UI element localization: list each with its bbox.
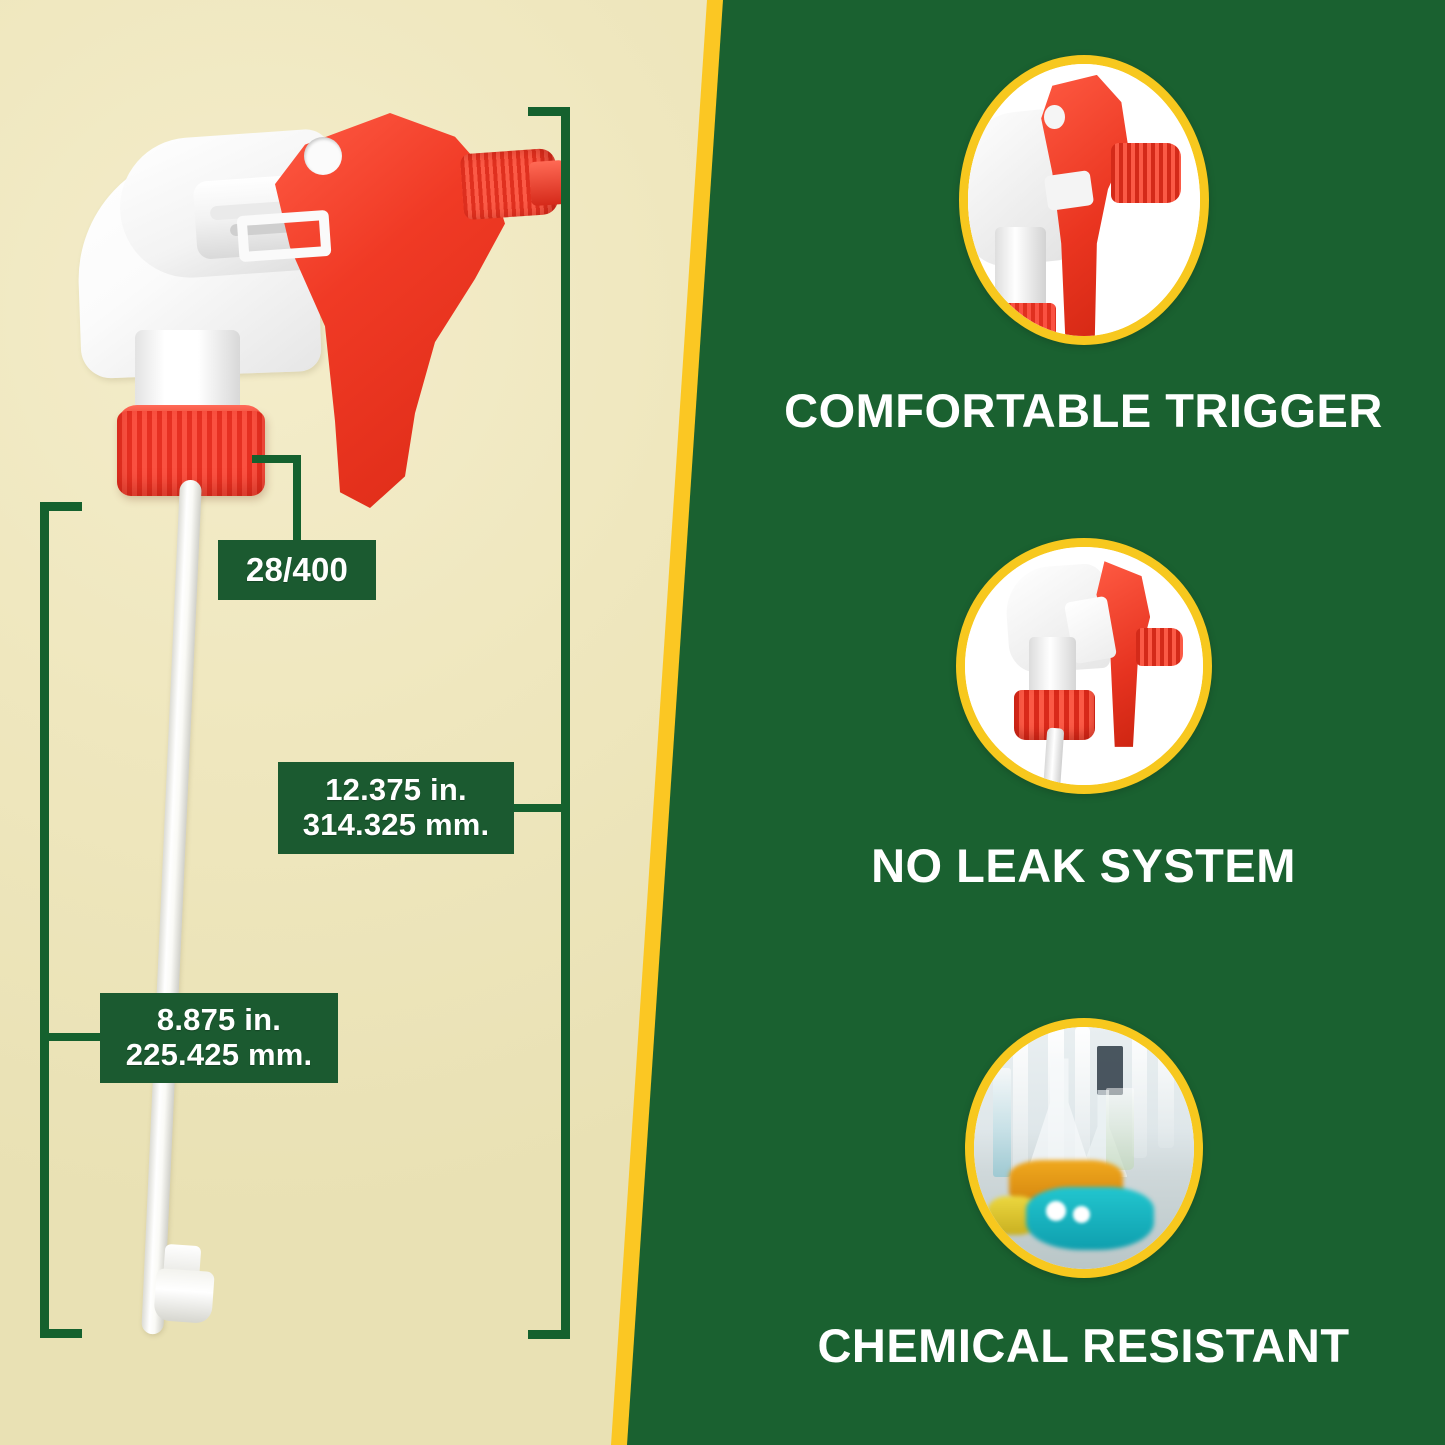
feature-chemical-resistant: CHEMICAL RESISTANT [722,1018,1445,1373]
closeup-pivot-dot [1044,105,1065,129]
sprayer-trigger-pivot-hole [304,137,342,175]
feature-image-no-leak-system [956,538,1212,794]
specular-highlight-1 [1046,1201,1066,1220]
trigger-sprayer-image [60,95,560,1385]
dimension-label-overall-length: 12.375 in. 314.325 mm. [278,762,514,854]
noleak-nozzle-knob [1136,628,1184,666]
glass-rod-4 [1132,1027,1147,1158]
feature-title-chemical-resistant: CHEMICAL RESISTANT [722,1318,1445,1373]
lab-glassware-illustration [974,1027,1194,1269]
sprayer-dip-tube [141,480,202,1335]
graduated-cylinder [993,1068,1011,1177]
feature-image-comfortable-trigger [959,55,1209,345]
product-infographic: 28/400 12.375 in. 314.325 mm. 8.875 in. … [0,0,1445,1445]
glass-rod-1 [1013,1027,1028,1177]
neck-finish-leader-vertical [293,455,301,545]
overall-length-bracket-bottom-arm [528,1330,570,1339]
feature-image-chemical-resistant [965,1018,1203,1278]
sprayer-latch [237,210,332,262]
dip-tube-bracket-spine [40,502,49,1338]
glass-rod-5 [1158,1027,1173,1148]
beaker [1106,1088,1135,1170]
dimension-label-dip-tube-length: 8.875 in. 225.425 mm. [100,993,338,1083]
closeup-collar [991,303,1056,345]
dip-tube-length-inches: 8.875 in. [126,1003,313,1038]
sprayer-dip-tube-foot [153,1268,214,1324]
specular-highlight-2 [1073,1206,1091,1223]
feature-title-comfortable-trigger: COMFORTABLE TRIGGER [722,383,1445,438]
dimension-label-neck-finish: 28/400 [218,540,376,600]
closeup-nozzle-knob [1111,143,1181,203]
neck-finish-value: 28/400 [246,552,348,589]
cyan-liquid [1026,1187,1154,1250]
no-leak-illustration [965,547,1203,785]
feature-title-no-leak-system: NO LEAK SYSTEM [722,838,1445,893]
feature-comfortable-trigger: COMFORTABLE TRIGGER [722,55,1445,438]
overall-length-millimeters: 314.325 mm. [303,808,490,843]
overall-length-connector [512,804,564,812]
dip-tube-bracket-bottom-arm [40,1329,82,1338]
overall-length-inches: 12.375 in. [303,773,490,808]
noleak-dip-tube [1043,727,1064,794]
dip-tube-length-millimeters: 225.425 mm. [126,1038,313,1073]
overall-length-bracket-spine [561,107,570,1339]
dip-tube-connector [44,1033,106,1041]
feature-no-leak-system: NO LEAK SYSTEM [722,538,1445,893]
closeup-white-linkage [1044,170,1095,211]
trigger-closeup-illustration [968,64,1200,336]
